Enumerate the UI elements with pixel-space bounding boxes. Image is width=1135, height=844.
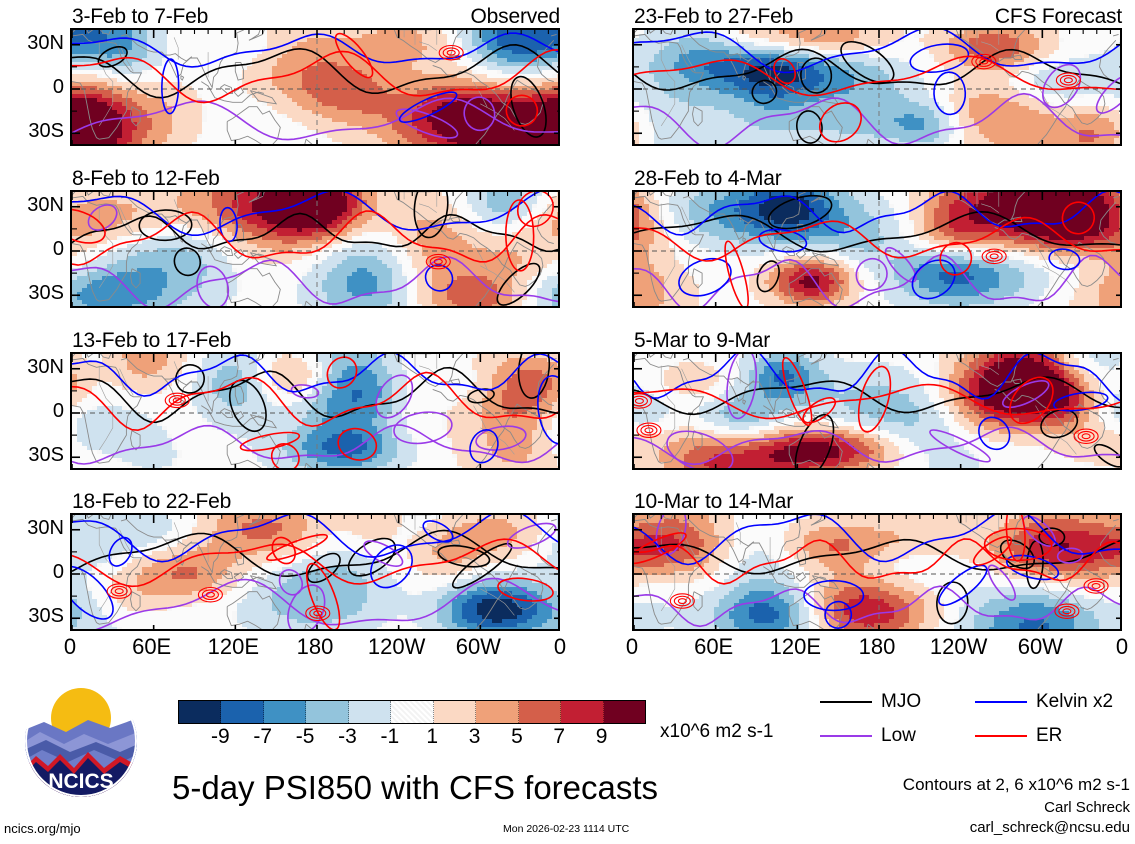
colorbar-label-5: 5 bbox=[511, 726, 523, 747]
map-fcs-3 bbox=[632, 352, 1122, 470]
map-obs-1 bbox=[70, 28, 560, 146]
colorbar-segment-7 bbox=[476, 701, 518, 723]
panel-grid: 3-Feb to 7-FebObserved30N030S8-Feb to 12… bbox=[0, 0, 1135, 620]
panel-title-fcs-4: 10-Mar to 14-Mar bbox=[634, 491, 793, 512]
legend-label-er: ER bbox=[1036, 726, 1062, 745]
author-email[interactable]: carl_schreck@ncsu.edu bbox=[700, 818, 1130, 837]
panel-title-obs-3: 13-Feb to 17-Feb bbox=[72, 330, 231, 351]
colorbar-label-neg1: -1 bbox=[380, 726, 399, 747]
x-tick-left-180: 180 bbox=[297, 636, 334, 658]
x-tick-right-60w: 60W bbox=[1018, 636, 1063, 658]
shaded-field bbox=[72, 192, 560, 308]
y-tick-30n: 30N bbox=[4, 195, 64, 215]
author-name: Carl Schreck bbox=[700, 798, 1130, 817]
ncics-logo-svg: NCICS bbox=[24, 684, 138, 798]
y-tick-30s: 30S bbox=[4, 283, 64, 303]
colorbar-segment-6 bbox=[434, 701, 476, 723]
x-tick-left-60w: 60W bbox=[456, 636, 501, 658]
x-tick-right-60e: 60E bbox=[694, 636, 733, 658]
colorbar-strip bbox=[178, 700, 646, 724]
colorbar-segment-3 bbox=[306, 701, 348, 723]
logo-text: NCICS bbox=[48, 770, 113, 793]
y-tick-30n: 30N bbox=[4, 518, 64, 538]
contour-note: Contours at 2, 6 x10^6 m2 s-1 bbox=[700, 775, 1130, 794]
colorbar-units-label: x10^6 m2 s-1 bbox=[660, 722, 773, 741]
colorbar-label-neg7: -7 bbox=[253, 726, 272, 747]
y-tick-0: 0 bbox=[4, 239, 64, 259]
x-tick-right-120w: 120W bbox=[930, 636, 987, 658]
y-tick-30s: 30S bbox=[4, 606, 64, 626]
x-tick-left-120w: 120W bbox=[368, 636, 425, 658]
y-tick-0: 0 bbox=[4, 401, 64, 421]
legend-line-kelvin-x2 bbox=[975, 701, 1027, 703]
x-tick-left-60e: 60E bbox=[132, 636, 171, 658]
x-axis-right: 060E120E180120W60W0 bbox=[632, 636, 1122, 666]
map-svg bbox=[634, 515, 1122, 631]
y-tick-30n: 30N bbox=[4, 33, 64, 53]
x-tick-left-0: 0 bbox=[64, 636, 76, 658]
colorbar-label-neg5: -5 bbox=[296, 726, 315, 747]
map-svg bbox=[72, 354, 560, 470]
y-tick-30n: 30N bbox=[4, 357, 64, 377]
legend-line-low bbox=[820, 735, 872, 737]
x-tick-right-120e: 120E bbox=[770, 636, 821, 658]
x-tick-right-0: 0 bbox=[1116, 636, 1128, 658]
timestamp: Mon 2026-02-23 1114 UTC bbox=[503, 824, 629, 835]
column-header-right: CFS Forecast bbox=[632, 6, 1122, 27]
x-tick-left-0: 0 bbox=[554, 636, 566, 658]
colorbar-label-1: 1 bbox=[426, 726, 438, 747]
y-tick-0: 0 bbox=[4, 77, 64, 97]
colorbar-segment-1 bbox=[221, 701, 263, 723]
legend-label-low: Low bbox=[881, 726, 916, 745]
map-fcs-2 bbox=[632, 190, 1122, 308]
colorbar-label-neg3: -3 bbox=[338, 726, 357, 747]
legend-item-kelvin-x2[interactable]: Kelvin x2 bbox=[975, 692, 1113, 711]
legend-label-mjo: MJO bbox=[881, 692, 921, 711]
y-tick-0: 0 bbox=[4, 562, 64, 582]
column-header-left: Observed bbox=[70, 6, 560, 27]
map-fcs-4 bbox=[632, 513, 1122, 631]
x-tick-right-0: 0 bbox=[626, 636, 638, 658]
colorbar-label-3: 3 bbox=[469, 726, 481, 747]
colorbar-label-neg9: -9 bbox=[211, 726, 230, 747]
map-fcs-1 bbox=[632, 28, 1122, 146]
legend-line-mjo bbox=[820, 701, 872, 703]
map-svg bbox=[72, 30, 560, 146]
map-obs-4 bbox=[70, 513, 560, 631]
map-svg bbox=[72, 192, 560, 308]
x-axis-left: 060E120E180120W60W0 bbox=[70, 636, 560, 666]
colorbar-segment-4 bbox=[349, 701, 391, 723]
legend-item-low[interactable]: Low bbox=[820, 726, 916, 745]
site-url[interactable]: ncics.org/mjo bbox=[4, 822, 81, 836]
legend-item-mjo[interactable]: MJO bbox=[820, 692, 921, 711]
panel-title-fcs-3: 5-Mar to 9-Mar bbox=[634, 330, 770, 351]
map-obs-2 bbox=[70, 190, 560, 308]
x-tick-right-180: 180 bbox=[859, 636, 896, 658]
colorbar-segment-2 bbox=[264, 701, 306, 723]
panel-title-obs-2: 8-Feb to 12-Feb bbox=[72, 168, 220, 189]
contour-legend: MJOLowKelvin x2ER bbox=[820, 692, 1120, 752]
panel-title-fcs-2: 28-Feb to 4-Mar bbox=[634, 168, 782, 189]
map-obs-3 bbox=[70, 352, 560, 470]
colorbar-segment-10 bbox=[604, 701, 645, 723]
map-svg bbox=[634, 354, 1122, 470]
colorbar-label-7: 7 bbox=[553, 726, 565, 747]
x-tick-left-120e: 120E bbox=[208, 636, 259, 658]
colorbar-segment-0 bbox=[179, 701, 221, 723]
legend-line-er bbox=[975, 735, 1027, 737]
colorbar: -9-7-5-3-113579 bbox=[178, 700, 648, 760]
main-title: 5-day PSI850 with CFS forecasts bbox=[172, 771, 658, 805]
y-tick-30s: 30S bbox=[4, 121, 64, 141]
ncics-logo: NCICS bbox=[24, 684, 138, 798]
map-svg bbox=[634, 30, 1122, 146]
colorbar-segment-9 bbox=[561, 701, 603, 723]
legend-item-er[interactable]: ER bbox=[975, 726, 1062, 745]
colorbar-label-9: 9 bbox=[596, 726, 608, 747]
colorbar-segment-5 bbox=[391, 701, 433, 723]
y-tick-30s: 30S bbox=[4, 445, 64, 465]
map-svg bbox=[72, 515, 560, 631]
panel-title-obs-4: 18-Feb to 22-Feb bbox=[72, 491, 231, 512]
colorbar-segment-8 bbox=[519, 701, 561, 723]
map-svg bbox=[634, 192, 1122, 308]
legend-label-kelvin-x2: Kelvin x2 bbox=[1036, 692, 1113, 711]
